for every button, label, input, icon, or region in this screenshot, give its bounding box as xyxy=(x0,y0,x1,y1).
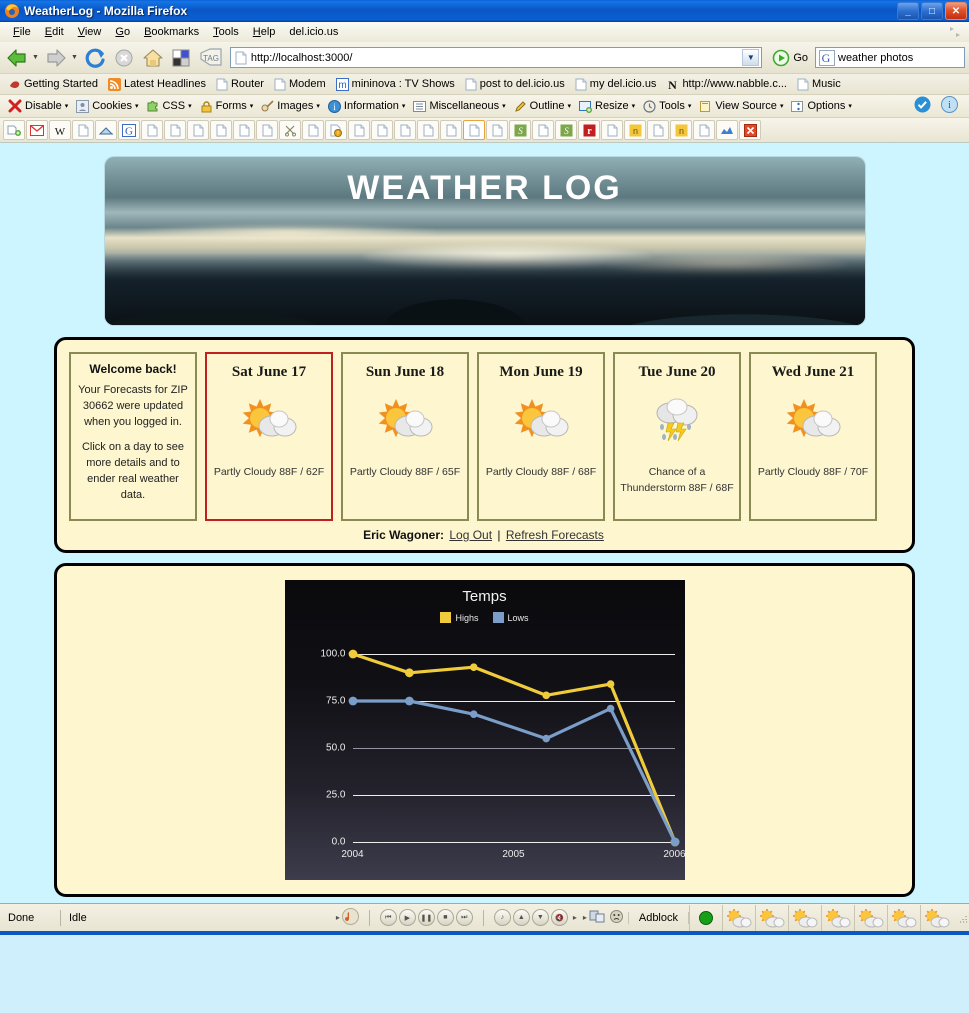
go-label: Go xyxy=(793,52,808,64)
green-dot-icon[interactable] xyxy=(689,905,722,931)
page-icon[interactable] xyxy=(348,120,370,140)
chart-y-tick-label: 0.0 xyxy=(332,836,346,847)
devtool-outline[interactable]: Outline▾ xyxy=(511,99,574,114)
devtool-disable[interactable]: Disable▾ xyxy=(5,98,71,114)
devtool-label: Miscellaneous xyxy=(429,100,499,112)
page-icon xyxy=(216,78,228,91)
chart-point[interactable] xyxy=(469,710,477,718)
extension-indicator-icon xyxy=(947,24,963,40)
bookmark-mininova[interactable]: m mininova : TV Shows xyxy=(332,77,459,92)
stumbleupon-icon[interactable]: S xyxy=(509,120,531,140)
devtool-tools[interactable]: Tools▾ xyxy=(640,99,694,114)
menu-file[interactable]: File xyxy=(6,24,38,40)
forecast-card-tue-june-20[interactable]: Tue June 20 Chance of a Thunderstor xyxy=(613,352,741,521)
caret-icon: ▾ xyxy=(316,102,320,110)
legend-item-highs[interactable]: Highs xyxy=(440,612,478,623)
forecast-card-wed-june-21[interactable]: Wed June 21 Partly Cloudy 88F / 70F xyxy=(749,352,877,521)
wikipedia-icon[interactable]: W xyxy=(49,120,71,140)
bookmark-label: http://www.nabble.c... xyxy=(682,78,787,90)
legend-label-lows: Lows xyxy=(508,613,529,623)
bookmark-label: Latest Headlines xyxy=(124,78,206,90)
warning-page-icon[interactable]: ! xyxy=(325,120,347,140)
puzzle-icon xyxy=(146,100,159,113)
svg-text:W: W xyxy=(55,126,66,137)
status-text: Done xyxy=(0,912,52,924)
forecast-card-mon-june-19[interactable]: Mon June 19 Partly Cloudy 88F / 68F xyxy=(477,352,605,521)
bookmark-label: Music xyxy=(812,78,841,90)
forecast-desc: Partly Cloudy 88F / 65F xyxy=(350,464,460,480)
stop-button[interactable] xyxy=(111,45,137,71)
caret-icon: ▾ xyxy=(65,102,69,110)
minimize-button[interactable]: _ xyxy=(897,2,919,20)
devtool-cookies[interactable]: Cookies▾ xyxy=(73,99,141,114)
page-icon[interactable] xyxy=(601,120,623,140)
prev-track-icon[interactable]: ⏮ xyxy=(380,909,397,926)
colorzilla-icon xyxy=(171,48,193,68)
welcome-paragraph-2: Click on a day to see more details and t… xyxy=(77,440,189,504)
player-status-text: Idle xyxy=(69,912,333,924)
caret-icon: ▾ xyxy=(780,102,784,110)
list-icon xyxy=(413,100,426,113)
chart-y-tick-label: 75.0 xyxy=(326,695,345,706)
partly-cloudy-icon[interactable] xyxy=(722,905,755,931)
play-icon[interactable]: ▶ xyxy=(399,909,416,926)
bookmark-modem[interactable]: Modem xyxy=(270,77,330,92)
page-icon[interactable] xyxy=(417,120,439,140)
chart-plot-area: 0.025.050.075.0100.0200420052006 xyxy=(353,654,675,842)
caret-icon: ▾ xyxy=(402,102,406,110)
page-icon[interactable] xyxy=(302,120,324,140)
banner-mountain-ridge xyxy=(105,253,865,325)
images-icon xyxy=(261,100,274,113)
chart-y-tick-label: 100.0 xyxy=(320,648,345,659)
home-button[interactable] xyxy=(140,45,166,71)
bookmark-label: Router xyxy=(231,78,264,90)
add-page-icon[interactable] xyxy=(3,120,25,140)
devtool-view-source[interactable]: View Source▾ xyxy=(696,99,786,114)
go-button[interactable]: Go xyxy=(768,49,812,67)
volume-down-icon[interactable]: ▼ xyxy=(532,909,549,926)
menu-bar: File Edit View Go Bookmarks Tools Help d… xyxy=(0,22,969,42)
chart-point[interactable] xyxy=(348,696,357,705)
chart-x-tick-label: 2004 xyxy=(341,849,363,860)
devtool-label: CSS xyxy=(162,100,185,112)
partly-cloudy-icon xyxy=(372,393,438,452)
user-action-bar: Eric Wagoner: Log Out | Refresh Forecast… xyxy=(69,528,900,542)
chart-y-tick-label: 25.0 xyxy=(326,789,345,800)
svg-text:i: i xyxy=(948,100,951,111)
devtool-miscellaneous[interactable]: Miscellaneous▾ xyxy=(410,99,508,114)
bookmark-getting-started[interactable]: Getting Started xyxy=(4,77,102,92)
svg-text:n: n xyxy=(678,126,683,136)
chart-point[interactable] xyxy=(670,837,679,846)
expand-caret-icon[interactable]: ▸ xyxy=(583,913,587,922)
note-icon[interactable]: ♪ xyxy=(494,909,511,926)
devtool-information[interactable]: i Information▾ xyxy=(325,99,409,114)
next-track-icon[interactable]: ⏭ xyxy=(456,909,473,926)
devtool-label: Images xyxy=(277,100,313,112)
clipboard-icon xyxy=(699,100,712,113)
bookmark-label: post to del.icio.us xyxy=(480,78,565,90)
devtool-css[interactable]: CSS▾ xyxy=(143,99,194,114)
link-divider: | xyxy=(497,528,500,542)
page-icon[interactable] xyxy=(693,120,715,140)
info-icon: i xyxy=(328,100,341,113)
firefox-icon xyxy=(4,3,20,19)
temps-chart[interactable]: Temps Highs Lows 0.025.050.075.0100.0200… xyxy=(285,580,685,880)
page-icon-active[interactable] xyxy=(463,120,485,140)
devtool-forms[interactable]: Forms▾ xyxy=(197,99,257,114)
bookmark-label: mininova : TV Shows xyxy=(352,78,455,90)
netvibes-icon[interactable]: n xyxy=(624,120,646,140)
forecast-desc: Partly Cloudy 88F / 62F xyxy=(214,464,324,480)
window-title: WeatherLog - Mozilla Firefox xyxy=(24,4,897,18)
back-button[interactable] xyxy=(4,45,30,71)
page-icon xyxy=(465,78,477,91)
forecast-day: Sun June 18 xyxy=(366,364,444,381)
resize-icon xyxy=(579,100,592,113)
menu-edit[interactable]: Edit xyxy=(38,24,71,40)
svg-text:m: m xyxy=(338,80,346,91)
welcome-card: Welcome back! Your Forecasts for ZIP 306… xyxy=(69,352,197,521)
status-divider xyxy=(483,910,484,926)
page-icon[interactable] xyxy=(141,120,163,140)
resize-grip-icon[interactable] xyxy=(955,911,969,925)
partly-cloudy-icon[interactable] xyxy=(821,905,854,931)
caret-icon: ▾ xyxy=(632,102,636,110)
chart-point[interactable] xyxy=(542,691,550,699)
logout-link[interactable]: Log Out xyxy=(449,528,492,542)
bookmark-router[interactable]: Router xyxy=(212,77,268,92)
partly-cloudy-icon xyxy=(780,393,846,452)
devtool-label: Resize xyxy=(595,100,629,112)
bookmark-my-delicious[interactable]: my del.icio.us xyxy=(571,77,661,92)
stop-icon xyxy=(114,48,134,68)
forecast-panel: Welcome back! Your Forecasts for ZIP 306… xyxy=(54,337,915,553)
note-logo-icon[interactable] xyxy=(342,908,359,928)
svg-text:N: N xyxy=(669,78,678,91)
devtool-options[interactable]: Options▾ xyxy=(788,99,854,114)
rss-icon xyxy=(108,78,121,91)
legend-label-highs: Highs xyxy=(455,613,478,623)
close-red-icon[interactable] xyxy=(739,120,761,140)
pause-icon[interactable]: ❚❚ xyxy=(418,909,435,926)
page-icon[interactable] xyxy=(256,120,278,140)
foxytunes-controls: ▸ ⏮ ▶ ❚❚ ■ ⏭ ♪ ▲ ▼ 🔇 ▸ xyxy=(333,908,580,928)
status-bar: Done Idle ▸ ⏮ ▶ ❚❚ ■ ⏭ ♪ ▲ ▼ 🔇 ▸ ▸ Adblo… xyxy=(0,903,969,931)
noscript-icon[interactable] xyxy=(608,909,625,927)
status-divider xyxy=(60,910,61,926)
window-bottom-edge xyxy=(0,931,969,935)
chart-point[interactable] xyxy=(542,734,550,742)
page-icon[interactable] xyxy=(210,120,232,140)
forecast-desc: Chance of a Thunderstorm 88F / 68F xyxy=(619,464,735,497)
chart-y-tick-label: 50.0 xyxy=(326,742,345,753)
info-circle-icon[interactable]: i xyxy=(941,96,958,116)
welcome-title: Welcome back! xyxy=(89,362,176,376)
url-bar[interactable]: http://localhost:3000/ ▼ xyxy=(230,47,762,68)
caret-icon: ▾ xyxy=(188,102,192,110)
close-button[interactable]: ✕ xyxy=(945,2,967,20)
forecast-day: Sat June 17 xyxy=(232,364,306,381)
status-divider xyxy=(369,910,370,926)
chart-x-tick-label: 2005 xyxy=(502,849,524,860)
page-icon[interactable] xyxy=(187,120,209,140)
bookmarks-toolbar: Getting Started Latest Headlines Router … xyxy=(0,74,969,95)
page-icon[interactable] xyxy=(486,120,508,140)
menu-go[interactable]: Go xyxy=(108,24,137,40)
partly-cloudy-icon[interactable] xyxy=(920,905,953,931)
chart-panel: Temps Highs Lows 0.025.050.075.0100.0200… xyxy=(54,563,915,897)
svg-text:r: r xyxy=(587,126,592,137)
menu-bookmarks[interactable]: Bookmarks xyxy=(137,24,206,40)
lock-icon xyxy=(200,100,213,113)
page-icon[interactable] xyxy=(164,120,186,140)
chart-point[interactable] xyxy=(348,649,357,658)
caret-icon: ▾ xyxy=(568,102,572,110)
menu-view[interactable]: View xyxy=(71,24,109,40)
chart-series-svg xyxy=(353,654,675,842)
devtool-label: Disable xyxy=(25,100,62,112)
page-icon xyxy=(274,78,286,91)
page-icon[interactable] xyxy=(440,120,462,140)
chart-point[interactable] xyxy=(606,680,614,688)
pencil-icon xyxy=(514,100,527,113)
nabble-icon: N xyxy=(666,78,679,91)
page-title: WEATHER LOG xyxy=(105,169,865,208)
menu-delicious[interactable]: del.icio.us xyxy=(282,24,345,40)
forward-button[interactable] xyxy=(43,45,69,71)
legend-swatch-lows xyxy=(493,612,504,623)
refresh-forecasts-link[interactable]: Refresh Forecasts xyxy=(506,528,604,542)
go-icon xyxy=(772,49,790,67)
overflow-caret-icon[interactable]: ▸ xyxy=(573,913,577,922)
page-icon xyxy=(575,78,587,91)
partly-cloudy-icon[interactable] xyxy=(887,905,920,931)
gmail-icon[interactable] xyxy=(26,120,48,140)
devtool-images[interactable]: Images▾ xyxy=(258,99,323,114)
chart-point[interactable] xyxy=(404,696,413,705)
url-text[interactable]: http://localhost:3000/ xyxy=(251,52,742,64)
bookmark-nabble[interactable]: N http://www.nabble.c... xyxy=(662,77,791,92)
bookmark-label: Getting Started xyxy=(24,78,98,90)
bookmark-label: Modem xyxy=(289,78,326,90)
svg-text:S: S xyxy=(518,126,523,136)
page-icon[interactable] xyxy=(647,120,669,140)
home-icon xyxy=(142,47,164,69)
colorzilla-button[interactable] xyxy=(169,45,195,71)
maximize-button[interactable]: □ xyxy=(921,2,943,20)
adblock-status[interactable]: Adblock xyxy=(628,912,689,924)
mute-icon[interactable]: 🔇 xyxy=(551,909,568,926)
forecast-day: Tue June 20 xyxy=(639,364,716,381)
page-icon xyxy=(234,51,248,65)
devtool-resize[interactable]: Resize▾ xyxy=(576,99,638,114)
partly-cloudy-icon xyxy=(508,393,574,452)
stumbleupon-icon[interactable]: S xyxy=(555,120,577,140)
tag-icon: TAG xyxy=(198,47,224,69)
reload-icon xyxy=(84,47,106,69)
page-icon[interactable] xyxy=(233,120,255,140)
chart-point[interactable] xyxy=(606,704,614,712)
stop-icon[interactable]: ■ xyxy=(437,909,454,926)
mail-icon[interactable] xyxy=(95,120,117,140)
chart-line-highs xyxy=(353,654,675,842)
svg-text:S: S xyxy=(564,126,569,136)
page-icon[interactable] xyxy=(394,120,416,140)
forecast-card-sun-june-18[interactable]: Sun June 18 Partly Cloudy 88F / 65F xyxy=(341,352,469,521)
volume-up-icon[interactable]: ▲ xyxy=(513,909,530,926)
chart-point[interactable] xyxy=(404,668,413,677)
status-extensions: ▸ xyxy=(580,909,628,927)
reload-button[interactable] xyxy=(82,45,108,71)
chart-title: Temps xyxy=(285,588,685,605)
user-name: Eric Wagoner: xyxy=(363,528,444,542)
options-icon xyxy=(791,100,804,113)
svg-text:G: G xyxy=(822,51,831,65)
partly-cloudy-icon[interactable] xyxy=(788,905,821,931)
back-dropdown-caret[interactable]: ▼ xyxy=(32,54,39,61)
bookmark-label: my del.icio.us xyxy=(590,78,657,90)
forecast-day: Mon June 19 xyxy=(499,364,582,381)
forward-dropdown-caret[interactable]: ▼ xyxy=(71,54,78,61)
thunderstorm-icon xyxy=(644,393,710,452)
search-input[interactable]: weather photos xyxy=(838,52,913,64)
red-x-icon xyxy=(8,99,22,113)
clock-icon xyxy=(643,100,656,113)
menu-tools[interactable]: Tools xyxy=(206,24,246,40)
devtool-label: Outline xyxy=(530,100,565,112)
bookmark-music[interactable]: Music xyxy=(793,77,845,92)
devtool-label: Information xyxy=(344,100,399,112)
page-icon[interactable] xyxy=(532,120,554,140)
forecast-desc: Partly Cloudy 88F / 68F xyxy=(486,464,596,480)
web-developer-toolbar: Disable▾ Cookies▾ CSS▾ Forms▾ Images▾ i … xyxy=(0,95,969,118)
site-banner: WEATHER LOG xyxy=(105,157,865,325)
partly-cloudy-icon xyxy=(236,393,302,452)
svg-text:G: G xyxy=(125,125,133,137)
network-icon[interactable] xyxy=(589,909,606,927)
devtool-label: View Source xyxy=(715,100,777,112)
forward-arrow-icon xyxy=(44,47,68,69)
extensions-icon-toolbar: W G ! S S r n n xyxy=(0,118,969,143)
caret-icon: ▾ xyxy=(502,102,506,110)
partly-cloudy-icon[interactable] xyxy=(854,905,887,931)
chart-point[interactable] xyxy=(469,663,477,671)
forecast-desc: Partly Cloudy 88F / 70F xyxy=(758,464,868,480)
expand-caret-icon[interactable]: ▸ xyxy=(336,913,340,922)
page-icon[interactable] xyxy=(371,120,393,140)
devtool-label: Tools xyxy=(659,100,685,112)
forecast-day: Wed June 21 xyxy=(772,364,855,381)
back-arrow-icon xyxy=(5,47,29,69)
chart-icon[interactable] xyxy=(716,120,738,140)
menu-help[interactable]: Help xyxy=(246,24,283,40)
reddit-icon[interactable]: r xyxy=(578,120,600,140)
svg-text:TAG: TAG xyxy=(203,54,219,63)
forecast-cards: Welcome back! Your Forecasts for ZIP 306… xyxy=(69,352,900,521)
tag-button[interactable]: TAG xyxy=(198,45,224,71)
page-viewport: WEATHER LOG Welcome back! Your Forecasts… xyxy=(0,143,969,903)
page-icon[interactable] xyxy=(72,120,94,140)
url-dropdown-icon[interactable]: ▼ xyxy=(742,49,759,66)
bookmark-post-delicious[interactable]: post to del.icio.us xyxy=(461,77,569,92)
window-controls: _ □ ✕ xyxy=(897,2,967,20)
chart-legend: Highs Lows xyxy=(285,612,685,623)
bookmark-icon xyxy=(8,78,21,91)
chart-container: Temps Highs Lows 0.025.050.075.0100.0200… xyxy=(69,580,900,880)
banner-glow xyxy=(135,224,439,242)
search-bar[interactable]: G weather photos xyxy=(815,47,965,68)
svg-text:n: n xyxy=(632,126,637,136)
chart-x-tick-label: 2006 xyxy=(663,849,685,860)
cookie-icon xyxy=(76,100,89,113)
google-search-icon: G xyxy=(819,50,835,66)
google-icon[interactable]: G xyxy=(118,120,140,140)
chart-gridline xyxy=(353,842,675,843)
mininova-icon: m xyxy=(336,78,349,91)
navigation-toolbar: ▼ ▼ TAG xyxy=(0,42,969,74)
legend-item-lows[interactable]: Lows xyxy=(493,612,529,623)
caret-icon: ▾ xyxy=(250,102,254,110)
devtool-label: Cookies xyxy=(92,100,132,112)
devtool-label: Forms xyxy=(216,100,247,112)
window-titlebar: WeatherLog - Mozilla Firefox _ □ ✕ xyxy=(0,0,969,22)
caret-icon: ▾ xyxy=(848,102,852,110)
forecast-card-sat-june-17[interactable]: Sat June 17 Partly Cloudy xyxy=(205,352,333,521)
legend-swatch-highs xyxy=(440,612,451,623)
caret-icon: ▾ xyxy=(135,102,139,110)
partly-cloudy-icon[interactable] xyxy=(755,905,788,931)
caret-icon: ▾ xyxy=(688,102,692,110)
scissors-icon[interactable] xyxy=(279,120,301,140)
devtool-label: Options xyxy=(807,100,845,112)
welcome-paragraph-1: Your Forecasts for ZIP 30662 were update… xyxy=(77,383,189,431)
validate-check-icon[interactable] xyxy=(914,96,931,116)
page-icon xyxy=(797,78,809,91)
bookmark-latest-headlines[interactable]: Latest Headlines xyxy=(104,77,210,92)
netvibes-icon[interactable]: n xyxy=(670,120,692,140)
